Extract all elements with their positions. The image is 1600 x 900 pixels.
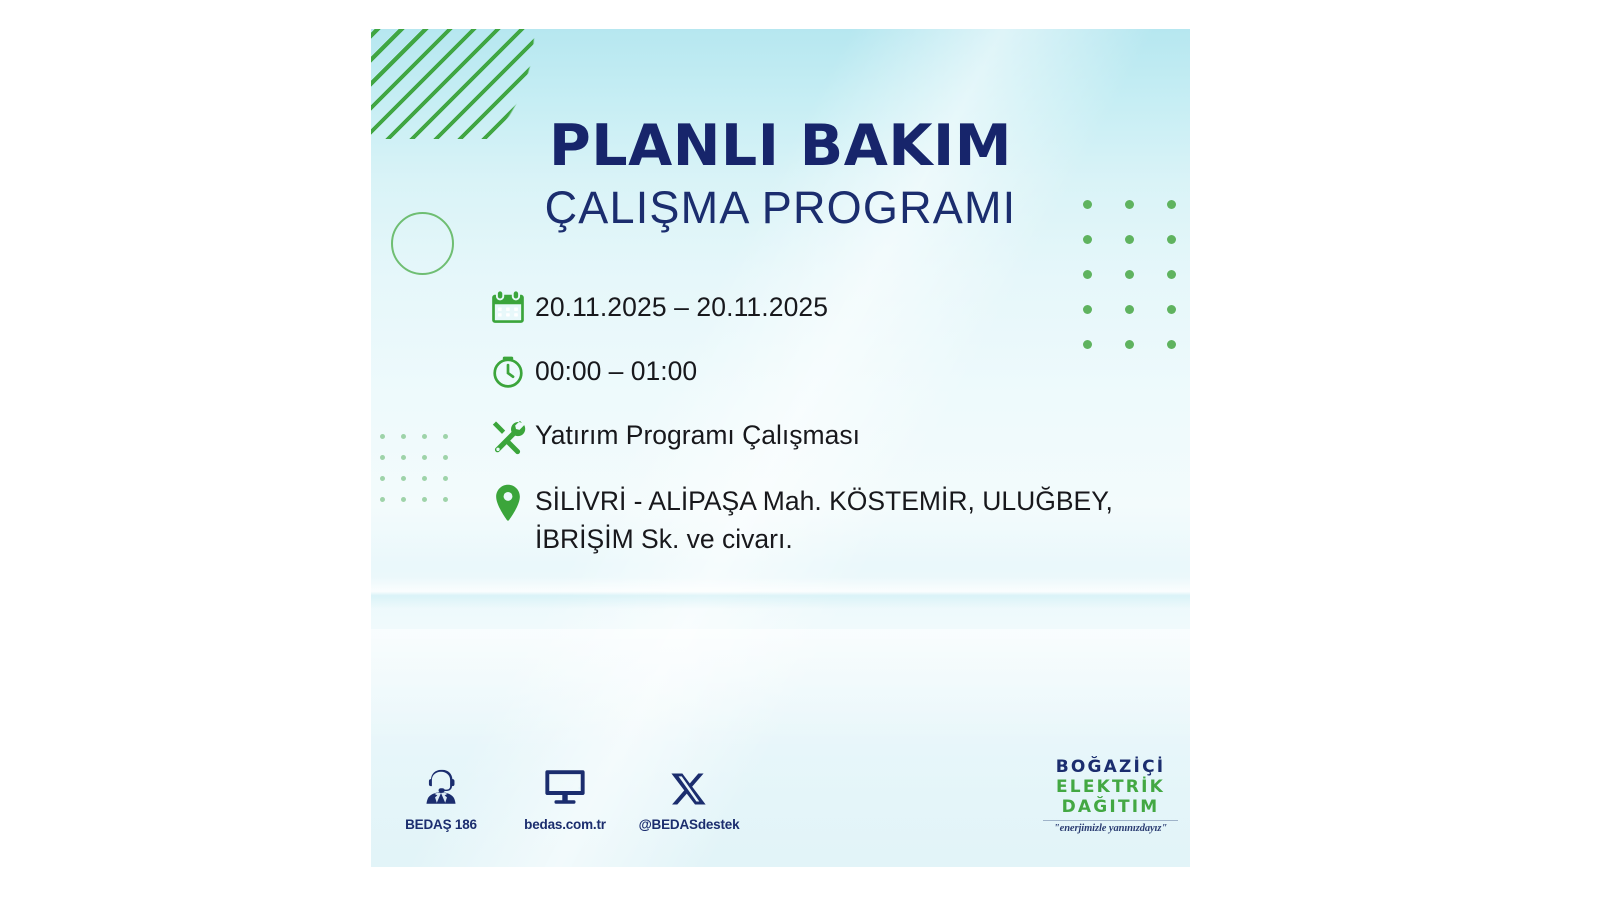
contact-x-label: @BEDASdestek xyxy=(633,817,745,832)
dot-grid-left-decoration xyxy=(380,434,464,518)
planned-maintenance-poster: PLANLI BAKIM ÇALIŞMA PROGRAMI 20.11.2025… xyxy=(371,29,1190,867)
detail-row-location: SİLİVRİ - ALİPAŞA Mah. KÖSTEMİR, ULUĞBEY… xyxy=(481,481,1171,558)
location-pin-icon xyxy=(481,481,535,523)
page-subtitle: ÇALIŞMA PROGRAMI xyxy=(371,183,1190,233)
support-agent-icon xyxy=(385,764,497,808)
brand-line-dagitim: DAĞITIM xyxy=(1043,797,1178,817)
background-band-lower xyxy=(371,629,1190,749)
detail-row-time: 00:00 – 01:00 xyxy=(481,351,1171,391)
brand-tagline: "enerjimizle yanınızdayız" xyxy=(1043,820,1178,835)
contact-website-label: bedas.com.tr xyxy=(509,817,621,832)
poster-titles: PLANLI BAKIM ÇALIŞMA PROGRAMI xyxy=(371,117,1190,232)
bedas-logo: BOĞAZİÇİ ELEKTRİK DAĞITIM "enerjimizle y… xyxy=(1043,757,1178,836)
detail-row-date: 20.11.2025 – 20.11.2025 xyxy=(481,287,1171,327)
detail-location: SİLİVRİ - ALİPAŞA Mah. KÖSTEMİR, ULUĞBEY… xyxy=(535,481,1171,558)
clock-icon xyxy=(481,351,535,391)
brand-line-elektrik: ELEKTRİK xyxy=(1043,777,1178,797)
detail-date-range: 20.11.2025 – 20.11.2025 xyxy=(535,287,828,327)
tools-icon xyxy=(481,415,535,457)
page-title: PLANLI BAKIM xyxy=(371,117,1190,177)
contact-website[interactable]: bedas.com.tr xyxy=(509,764,621,832)
x-twitter-icon xyxy=(633,764,745,808)
detail-row-work-type: Yatırım Programı Çalışması xyxy=(481,415,1171,457)
contact-phone-label: BEDAŞ 186 xyxy=(385,817,497,832)
footer-contacts: BEDAŞ 186 bedas.com.tr @BEDASdestek xyxy=(385,764,745,832)
contact-phone[interactable]: BEDAŞ 186 xyxy=(385,764,497,832)
detail-work-type: Yatırım Programı Çalışması xyxy=(535,415,860,455)
brand-line-bogazici: BOĞAZİÇİ xyxy=(1043,757,1178,777)
maintenance-details: 20.11.2025 – 20.11.2025 00:00 – 01:00 xyxy=(481,287,1171,582)
calendar-icon xyxy=(481,287,535,327)
detail-time-range: 00:00 – 01:00 xyxy=(535,351,697,391)
monitor-icon xyxy=(509,764,621,808)
contact-x[interactable]: @BEDASdestek xyxy=(633,764,745,832)
